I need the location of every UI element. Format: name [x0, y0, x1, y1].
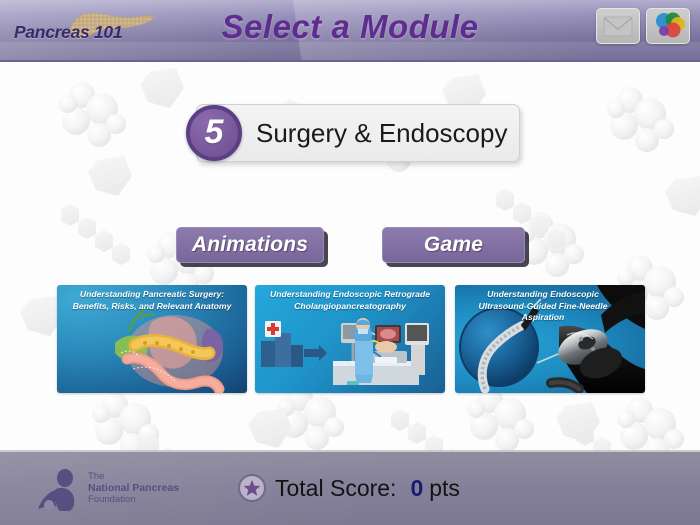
npf-line-2: National Pancreas — [88, 483, 179, 495]
npf-line-1: The — [88, 471, 179, 483]
caption-line: Ultrasound-Guided Fine-Needle — [465, 301, 621, 313]
star-badge — [238, 474, 266, 502]
module-title: Surgery & Endoscopy — [256, 104, 507, 162]
score-label: Total Score: — [275, 475, 396, 502]
background-watermark-pattern — [0, 0, 700, 525]
score-value: 0 — [410, 475, 423, 502]
caption-line: Understanding Endoscopic Retrograde — [261, 289, 439, 301]
module-number-label: 5 — [205, 115, 224, 149]
tab-game-label: Game — [424, 233, 483, 257]
score-unit: pts — [429, 475, 460, 502]
thumbnail-caption: Understanding Endoscopic Retrograde Chol… — [255, 289, 445, 312]
app-header: Pancreas 101 Select a Module — [0, 0, 700, 62]
page-title: Select a Module — [0, 8, 700, 46]
app-footer: The National Pancreas Foundation Total S… — [0, 450, 700, 525]
thumbnail-pancreatic-surgery[interactable]: Understanding Pancreatic Surgery: Benefi… — [57, 285, 247, 393]
thumbnail-ercp[interactable]: Understanding Endoscopic Retrograde Chol… — [255, 285, 445, 393]
npf-logo[interactable]: The National Pancreas Foundation — [36, 466, 211, 514]
color-bubbles-icon — [647, 9, 689, 43]
npf-line-3: Foundation — [88, 494, 179, 506]
caption-line: Benefits, Risks, and Relevant Anatomy — [63, 301, 241, 313]
caption-line: Aspiration — [465, 312, 621, 324]
thumbnail-eus-fna[interactable]: Understanding Endoscopic Ultrasound-Guid… — [455, 285, 645, 393]
star-icon — [243, 479, 261, 497]
thumbnail-caption: Understanding Pancreatic Surgery: Benefi… — [57, 289, 247, 312]
tab-animations-label: Animations — [192, 233, 308, 257]
mail-button[interactable] — [596, 8, 640, 44]
caption-line: Understanding Endoscopic — [465, 289, 621, 301]
total-score: Total Score: 0 pts — [238, 468, 460, 508]
bubbles-button[interactable] — [646, 8, 690, 44]
caption-line: Understanding Pancreatic Surgery: — [63, 289, 241, 301]
app-root: Pancreas 101 Select a Module 5 Surgery &… — [0, 0, 700, 525]
npf-person-icon — [36, 468, 82, 512]
tab-animations[interactable]: Animations — [176, 227, 324, 263]
module-number-badge[interactable]: 5 — [186, 105, 242, 161]
tab-game[interactable]: Game — [382, 227, 525, 263]
caption-line: Cholangiopancreatography — [261, 301, 439, 313]
envelope-icon — [597, 9, 639, 43]
npf-wordmark: The National Pancreas Foundation — [88, 471, 179, 506]
thumbnail-caption: Understanding Endoscopic Ultrasound-Guid… — [455, 289, 645, 324]
